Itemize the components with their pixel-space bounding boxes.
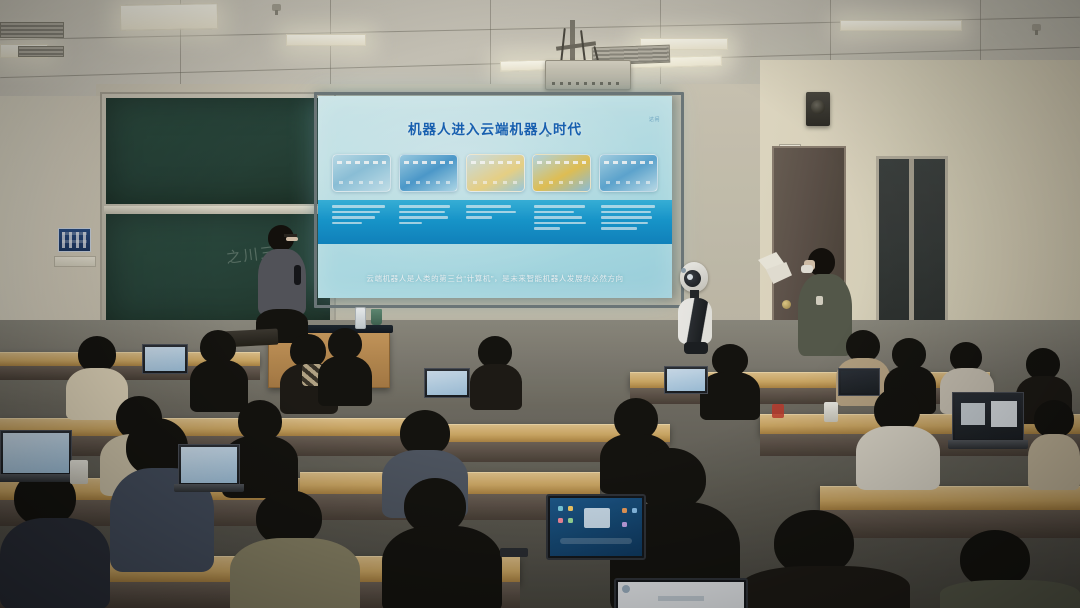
jacket-badge: [816, 296, 823, 305]
laptop-screen: [955, 395, 1021, 439]
laptop[interactable]: [0, 430, 72, 476]
face-mask: [801, 265, 813, 273]
ceiling-projector: [545, 60, 631, 90]
audience-member: [230, 490, 360, 608]
robot-head: [680, 262, 708, 292]
laptop[interactable]: [142, 344, 188, 374]
ceiling-air-vent: [0, 22, 64, 38]
tablet[interactable]: [546, 494, 646, 560]
thermos-cup[interactable]: [70, 460, 88, 484]
laptop[interactable]: [838, 368, 880, 396]
glasses-icon: [284, 234, 297, 237]
lecture-hall-photo: 之川三 机器人进入云端机器人时代 达闬: [0, 0, 1080, 608]
robot-eye: [687, 274, 693, 280]
laptop-keyboard[interactable]: [0, 474, 76, 482]
projector-mount-pole: [570, 20, 575, 62]
water-bottle[interactable]: [355, 307, 366, 329]
robot-torso: [678, 298, 712, 344]
chalk-rail: [104, 206, 332, 213]
ceiling-grid-line: [490, 0, 491, 96]
control-panel-leds: [62, 232, 87, 248]
laptop-screen: [145, 347, 185, 371]
laptop-screen: [841, 371, 877, 393]
laptop-screen: [427, 371, 467, 395]
smartphone[interactable]: [500, 548, 528, 557]
laptop[interactable]: [664, 366, 708, 394]
presenter-face: [286, 237, 298, 241]
microphone[interactable]: [294, 265, 301, 285]
audience-member: [382, 478, 502, 608]
audience-member: [1028, 400, 1080, 486]
sprinkler-head: [1032, 24, 1041, 31]
screen-frame: [314, 92, 684, 308]
laptop[interactable]: [424, 368, 470, 398]
audience-member: [740, 510, 910, 608]
cup[interactable]: [371, 309, 382, 325]
speaker-cone: [811, 100, 825, 114]
tablet[interactable]: [614, 578, 748, 608]
tablet-screen: [618, 582, 744, 608]
blackboard-upper-panel: [106, 98, 330, 204]
ceiling-light-panel: [840, 20, 962, 31]
ceiling-air-vent: [18, 46, 64, 57]
laptop-keyboard[interactable]: [174, 484, 244, 492]
laptop-keyboard[interactable]: [948, 440, 1028, 449]
audience-member: [318, 328, 372, 404]
laptop-screen: [667, 369, 705, 391]
laptop[interactable]: [952, 392, 1024, 442]
small-object: [772, 404, 784, 418]
wall-speaker: [806, 92, 830, 126]
presenter: [254, 225, 310, 343]
laptop-screen: [181, 447, 237, 483]
audience-member: [856, 388, 940, 488]
tablet-screen: [550, 498, 642, 556]
audience-member: [110, 418, 214, 568]
audience-member: [190, 330, 248, 410]
laptop-screen: [3, 433, 69, 473]
ceiling-light-panel: [120, 3, 218, 31]
wall-sign: [54, 256, 96, 267]
audience-member: [470, 336, 522, 406]
audience-member: [700, 344, 760, 416]
wall-control-panel[interactable]: [58, 228, 91, 252]
cup[interactable]: [824, 402, 838, 422]
audience-member: [940, 530, 1080, 608]
audience-member: [0, 470, 110, 608]
ceiling-light-panel: [286, 34, 366, 46]
laptop[interactable]: [178, 444, 240, 486]
door-knob[interactable]: [782, 300, 791, 309]
sprinkler-head: [272, 4, 281, 11]
projector-vent-dots: [552, 82, 624, 85]
robot-sensor: [681, 268, 686, 273]
